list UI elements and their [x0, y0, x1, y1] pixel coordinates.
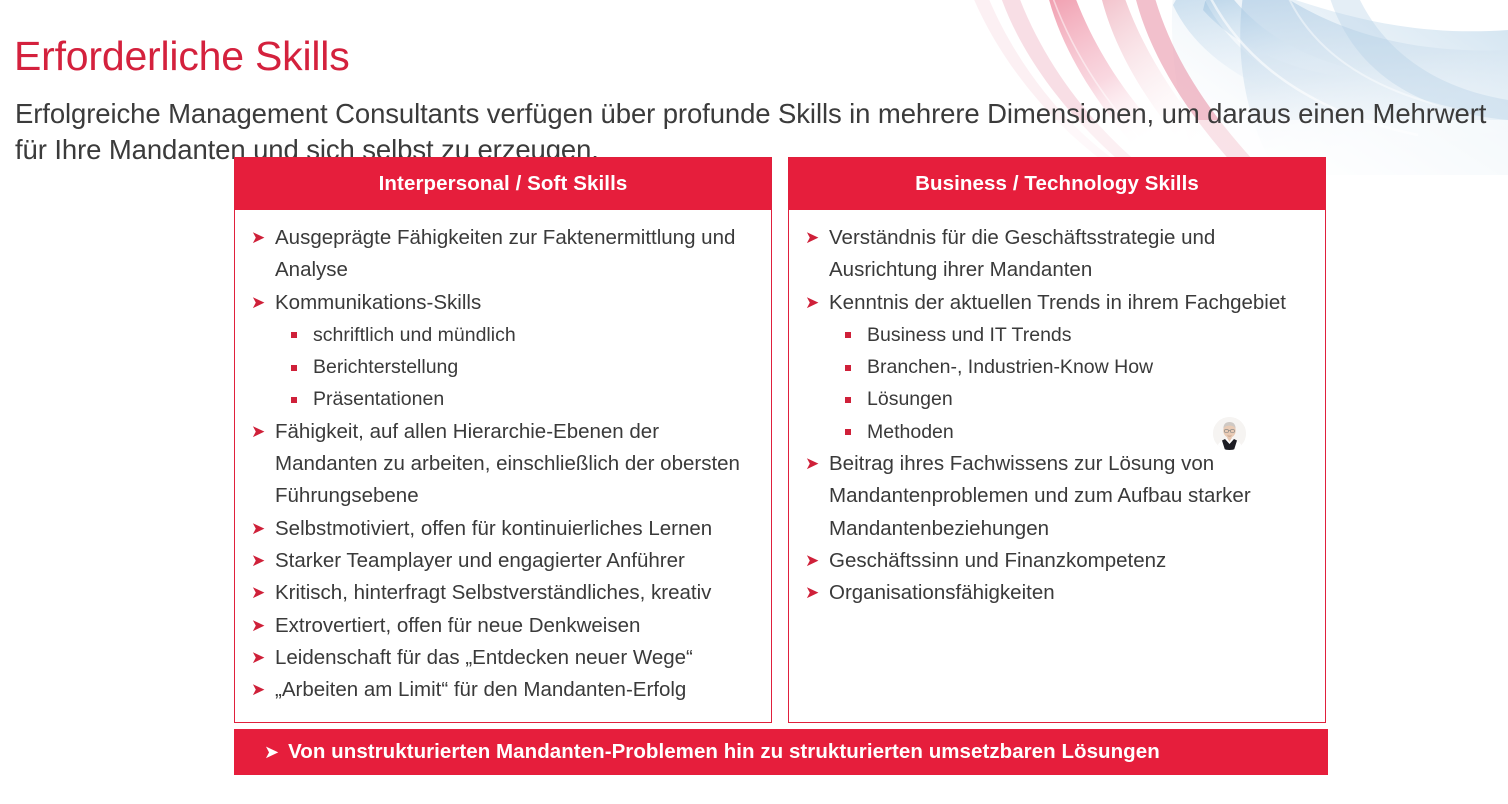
- square-bullet-icon: [291, 365, 297, 371]
- arrow-bullet-icon: ➤: [805, 222, 819, 254]
- sub-list-item: schriftlich und mündlich: [286, 319, 757, 351]
- square-bullet-icon: [291, 332, 297, 338]
- list-item-label: Kenntnis der aktuellen Trends in ihrem F…: [829, 291, 1286, 314]
- arrow-bullet-icon: ➤: [251, 222, 265, 254]
- skills-list-right: ➤ Verständnis für die Geschäftsstrategie…: [803, 222, 1311, 610]
- arrow-bullet-icon: ➤: [805, 577, 819, 609]
- arrow-bullet-icon: ➤: [251, 674, 265, 706]
- list-item-label: Organisationsfähigkeiten: [829, 581, 1055, 604]
- sub-list-item: Business und IT Trends: [840, 319, 1311, 351]
- sub-list-item-label: Lösungen: [867, 388, 953, 410]
- list-item-label: Fähigkeit, auf allen Hierarchie-Ebenen d…: [275, 420, 740, 508]
- page-title: Erforderliche Skills: [14, 32, 350, 80]
- sub-list-item-label: Präsentationen: [313, 388, 444, 410]
- list-item: ➤ Extrovertiert, offen für neue Denkweis…: [249, 610, 757, 642]
- sub-list-item: Branchen-, Industrien-Know How: [840, 351, 1311, 383]
- column-business-technology-skills: Business / Technology Skills ➤ Verständn…: [788, 157, 1326, 723]
- square-bullet-icon: [845, 397, 851, 403]
- sub-list-item-label: Business und IT Trends: [867, 324, 1072, 346]
- list-item: ➤ Leidenschaft für das „Entdecken neuer …: [249, 642, 757, 674]
- list-item-label: Geschäftssinn und Finanzkompetenz: [829, 549, 1166, 572]
- column-body-right: ➤ Verständnis für die Geschäftsstrategie…: [789, 210, 1325, 610]
- square-bullet-icon: [291, 397, 297, 403]
- sub-list-item-label: Berichterstellung: [313, 356, 458, 378]
- list-item-label: „Arbeiten am Limit“ für den Mandanten-Er…: [275, 678, 686, 701]
- list-item-label: Starker Teamplayer und engagierter Anfüh…: [275, 549, 685, 572]
- arrow-bullet-icon: ➤: [251, 513, 265, 545]
- list-item: ➤ Geschäftssinn und Finanzkompetenz: [803, 545, 1311, 577]
- summary-banner-label: Von unstrukturierten Mandanten-Problemen…: [288, 740, 1160, 764]
- list-item-label: Kritisch, hinterfragt Selbstverständlich…: [275, 581, 711, 604]
- sub-list-item: Berichterstellung: [286, 351, 757, 383]
- arrow-bullet-icon: ➤: [805, 448, 819, 480]
- sub-list: schriftlich und mündlich Berichterstellu…: [275, 319, 757, 416]
- list-item-label: Leidenschaft für das „Entdecken neuer We…: [275, 646, 693, 669]
- list-item-label: Selbstmotiviert, offen für kontinuierlic…: [275, 517, 712, 540]
- arrow-bullet-icon: ➤: [251, 545, 265, 577]
- arrow-bullet-icon: ➤: [805, 287, 819, 319]
- arrow-bullet-icon: ➤: [251, 577, 265, 609]
- sub-list-item-label: schriftlich und mündlich: [313, 324, 516, 346]
- column-header-right: Business / Technology Skills: [789, 158, 1325, 210]
- square-bullet-icon: [845, 429, 851, 435]
- list-item: ➤ Starker Teamplayer und engagierter Anf…: [249, 545, 757, 577]
- list-item: ➤ Ausgeprägte Fähigkeiten zur Faktenermi…: [249, 222, 757, 287]
- list-item-label: Extrovertiert, offen für neue Denkweisen: [275, 614, 640, 637]
- arrow-bullet-icon: ➤: [251, 416, 265, 448]
- list-item: ➤ Beitrag ihres Fachwissens zur Lösung v…: [803, 448, 1311, 545]
- list-item: ➤ Verständnis für die Geschäftsstrategie…: [803, 222, 1311, 287]
- column-body-left: ➤ Ausgeprägte Fähigkeiten zur Faktenermi…: [235, 210, 771, 706]
- list-item: ➤ Fähigkeit, auf allen Hierarchie-Ebenen…: [249, 416, 757, 513]
- arrow-bullet-icon: ➤: [805, 545, 819, 577]
- column-header-left-label: Interpersonal / Soft Skills: [379, 172, 628, 196]
- square-bullet-icon: [845, 365, 851, 371]
- sub-list-item-label: Branchen-, Industrien-Know How: [867, 356, 1153, 378]
- list-item-label: Verständnis für die Geschäftsstrategie u…: [829, 226, 1215, 281]
- list-item: ➤ Organisationsfähigkeiten: [803, 577, 1311, 609]
- list-item-label: Ausgeprägte Fähigkeiten zur Faktenermitt…: [275, 226, 735, 281]
- slide-root: Erforderliche Skills Erfolgreiche Manage…: [0, 0, 1508, 804]
- arrow-bullet-icon: ➤: [264, 743, 279, 761]
- column-header-left: Interpersonal / Soft Skills: [235, 158, 771, 210]
- list-item: ➤ Selbstmotiviert, offen für kontinuierl…: [249, 513, 757, 545]
- list-item-label: Beitrag ihres Fachwissens zur Lösung von…: [829, 452, 1251, 540]
- square-bullet-icon: [845, 332, 851, 338]
- column-header-right-label: Business / Technology Skills: [915, 172, 1199, 196]
- list-item: ➤ Kommunikations-Skills schriftlich und …: [249, 287, 757, 416]
- sub-list-item: Lösungen: [840, 383, 1311, 415]
- arrow-bullet-icon: ➤: [251, 642, 265, 674]
- column-interpersonal-soft-skills: Interpersonal / Soft Skills ➤ Ausgeprägt…: [234, 157, 772, 723]
- list-item: ➤ Kritisch, hinterfragt Selbstverständli…: [249, 577, 757, 609]
- sub-list-item-label: Methoden: [867, 421, 954, 443]
- arrow-bullet-icon: ➤: [251, 610, 265, 642]
- avatar: [1213, 417, 1246, 450]
- arrow-bullet-icon: ➤: [251, 287, 265, 319]
- list-item: ➤ „Arbeiten am Limit“ für den Mandanten-…: [249, 674, 757, 706]
- summary-banner: ➤ Von unstrukturierten Mandanten-Problem…: [234, 729, 1328, 775]
- sub-list-item: Präsentationen: [286, 383, 757, 415]
- skills-list-left: ➤ Ausgeprägte Fähigkeiten zur Faktenermi…: [249, 222, 757, 706]
- list-item-label: Kommunikations-Skills: [275, 291, 481, 314]
